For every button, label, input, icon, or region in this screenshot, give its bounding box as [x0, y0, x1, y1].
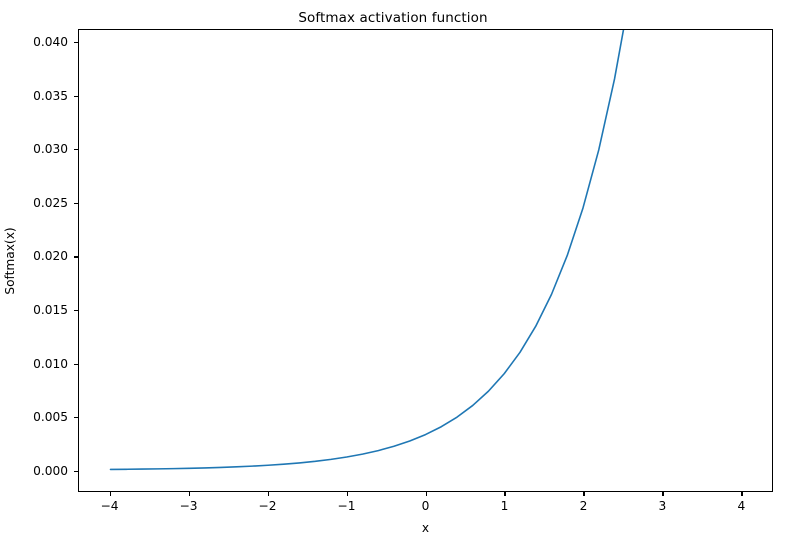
x-tick-label: 4 — [716, 499, 766, 513]
x-tick-label: −4 — [85, 499, 135, 513]
softmax-curve-line — [110, 30, 740, 469]
x-tick-mark — [347, 492, 348, 496]
x-tick-mark — [662, 492, 663, 496]
x-tick-mark — [426, 492, 427, 496]
x-axis-label: x — [78, 521, 773, 535]
x-tick-label: −2 — [243, 499, 293, 513]
x-tick-label: 2 — [558, 499, 608, 513]
x-tick-mark — [504, 492, 505, 496]
x-tick-mark — [110, 492, 111, 496]
x-tick-mark — [268, 492, 269, 496]
x-tick-label: −3 — [164, 499, 214, 513]
x-tick-label: −1 — [322, 499, 372, 513]
plot-area — [78, 29, 773, 492]
x-tick-mark — [583, 492, 584, 496]
x-tick-label: 0 — [401, 499, 451, 513]
chart-figure: Softmax activation function Softmax(x) 0… — [0, 0, 786, 547]
x-tick-label: 1 — [479, 499, 529, 513]
softmax-curve-svg — [79, 30, 772, 491]
x-tick-label: 3 — [637, 499, 687, 513]
x-tick-mark — [741, 492, 742, 496]
x-tick-mark — [189, 492, 190, 496]
